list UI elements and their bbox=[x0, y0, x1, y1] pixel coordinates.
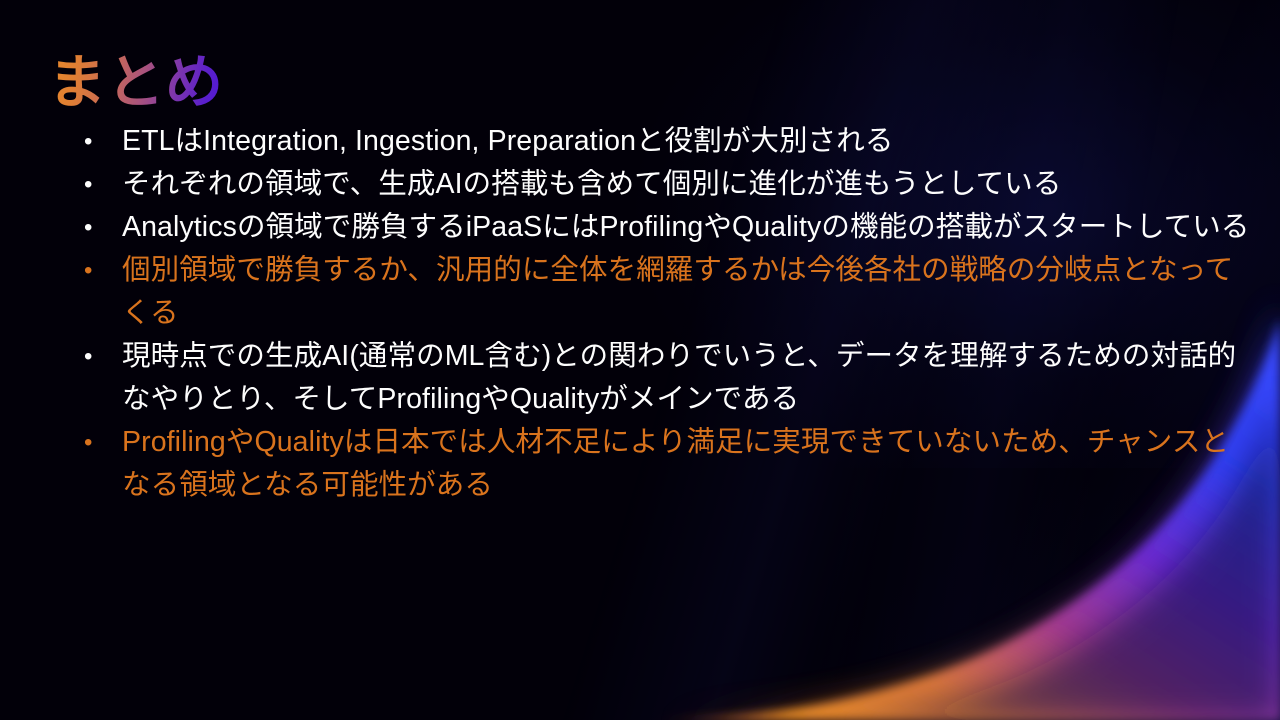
bullet-text: 現時点での生成AI(通常のML含む)との関わりでいうと、データを理解するための対… bbox=[122, 335, 1250, 421]
bullet-marker-icon: • bbox=[78, 249, 122, 292]
bullet-list: • ETLはIntegration, Ingestion, Preparatio… bbox=[78, 120, 1250, 507]
bullet-marker-icon: • bbox=[78, 206, 122, 249]
list-item: • Analyticsの領域で勝負するiPaaSにはProfilingやQual… bbox=[78, 206, 1250, 249]
bullet-text: それぞれの領域で、生成AIの搭載も含めて個別に進化が進もうとしている bbox=[122, 163, 1250, 206]
bullet-text: Analyticsの領域で勝負するiPaaSにはProfilingやQualit… bbox=[122, 206, 1250, 249]
bullet-marker-icon: • bbox=[78, 120, 122, 163]
bullet-text: ProfilingやQualityは日本では人材不足により満足に実現できていない… bbox=[122, 421, 1250, 507]
bullet-marker-icon: • bbox=[78, 163, 122, 206]
list-item: • ETLはIntegration, Ingestion, Preparatio… bbox=[78, 120, 1250, 163]
list-item: • 現時点での生成AI(通常のML含む)との関わりでいうと、データを理解するため… bbox=[78, 335, 1250, 421]
bullet-text: 個別領域で勝負するか、汎用的に全体を網羅するかは今後各社の戦略の分岐点となってく… bbox=[122, 249, 1250, 335]
presentation-slide: まとめ • ETLはIntegration, Ingestion, Prepar… bbox=[0, 0, 1280, 720]
list-item: • 個別領域で勝負するか、汎用的に全体を網羅するかは今後各社の戦略の分岐点となっ… bbox=[78, 249, 1250, 335]
list-item: • ProfilingやQualityは日本では人材不足により満足に実現できてい… bbox=[78, 421, 1250, 507]
slide-title: まとめ bbox=[48, 53, 224, 114]
list-item: • それぞれの領域で、生成AIの搭載も含めて個別に進化が進もうとしている bbox=[78, 163, 1250, 206]
bullet-marker-icon: • bbox=[78, 421, 122, 464]
bullet-text: ETLはIntegration, Ingestion, Preparationと… bbox=[122, 120, 1250, 163]
bullet-marker-icon: • bbox=[78, 335, 122, 378]
